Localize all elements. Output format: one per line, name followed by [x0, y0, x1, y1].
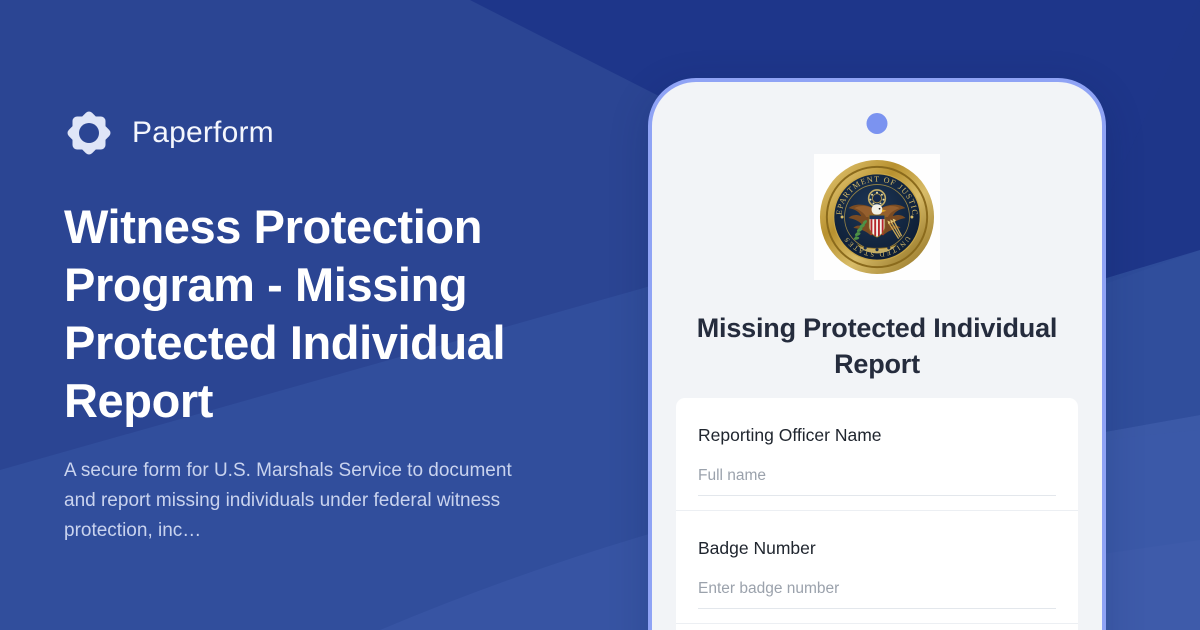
- share-card-canvas: Paperform Witness Protection Program - M…: [0, 0, 1200, 630]
- page-title: Witness Protection Program - Missing Pro…: [64, 198, 584, 430]
- phone-mockup: DEPARTMENT OF JUSTICE UNITED STATES: [648, 78, 1106, 630]
- field-input-underline[interactable]: Enter badge number: [698, 579, 1056, 609]
- form-field-badge-number[interactable]: Badge Number Enter badge number: [676, 511, 1078, 624]
- form-field-reporting-officer-name[interactable]: Reporting Officer Name Full name: [676, 398, 1078, 511]
- hero-panel: Paperform Witness Protection Program - M…: [64, 104, 624, 546]
- field-input-underline[interactable]: Full name: [698, 466, 1056, 496]
- field-label: Badge Number: [698, 537, 1056, 559]
- camera-dot-icon: [867, 113, 888, 134]
- page-subtitle: A secure form for U.S. Marshals Service …: [64, 456, 544, 546]
- field-placeholder: Enter badge number: [698, 579, 1056, 599]
- form-field-next-partial[interactable]: [676, 624, 1078, 630]
- paperform-logo-icon: [64, 108, 114, 158]
- field-label: Reporting Officer Name: [698, 424, 1056, 446]
- brand-name: Paperform: [132, 118, 274, 148]
- brand-lockup: Paperform: [64, 104, 624, 162]
- doj-seal-icon: DEPARTMENT OF JUSTICE UNITED STATES: [814, 154, 940, 280]
- form-heading: Missing Protected Individual Report: [652, 310, 1102, 382]
- field-placeholder: Full name: [698, 466, 1056, 486]
- form-field-list: Reporting Officer Name Full name Badge N…: [676, 398, 1078, 630]
